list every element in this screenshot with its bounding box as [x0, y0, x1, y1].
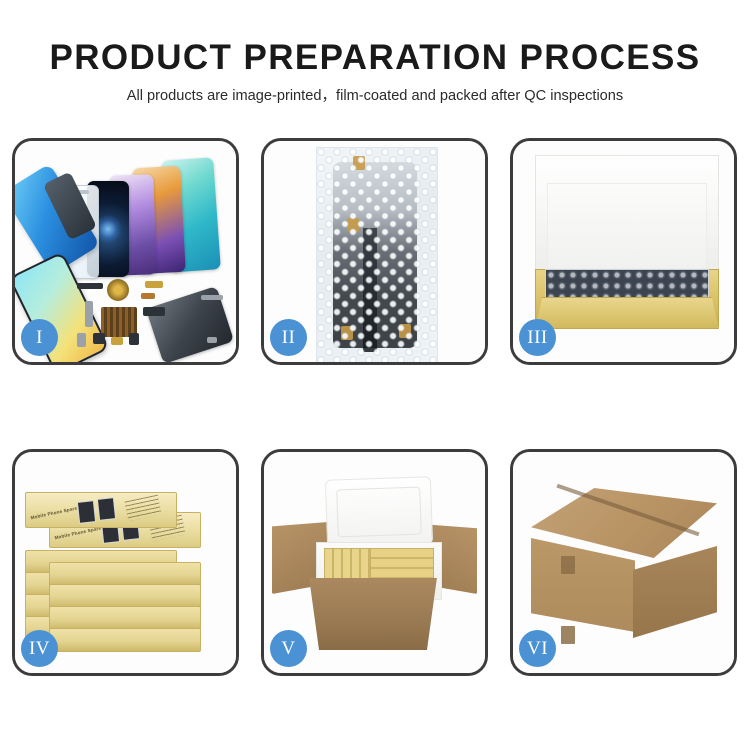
part-screws: [207, 337, 217, 343]
page-title: PRODUCT PREPARATION PROCESS: [0, 36, 750, 80]
part-vibrator: [93, 333, 105, 344]
speaker-coil-part: [107, 279, 129, 301]
step-panel-5: V: [261, 449, 488, 676]
stacked-box-r2: [49, 584, 201, 608]
part-screwdriver: [201, 295, 223, 300]
step-badge-2: II: [270, 319, 307, 356]
part-bracket: [85, 301, 93, 327]
step-badge-5: V: [270, 630, 307, 667]
step-badge-3: III: [519, 319, 556, 356]
part-antenna: [77, 283, 103, 289]
box-kraft-front: [535, 297, 719, 329]
box-window-top-b: [97, 497, 116, 521]
step-panel-1: I: [12, 138, 239, 365]
part-sim-tray: [77, 333, 86, 347]
box-window-top-a: [77, 500, 96, 524]
carton-tape-upper: [561, 556, 575, 574]
carton-tape-lower: [561, 626, 575, 644]
step-panel-3: III: [510, 138, 737, 365]
box-spec-text-top: [124, 495, 161, 522]
stacked-box-r3: [49, 606, 201, 630]
shipping-carton-front: [531, 538, 635, 632]
step-badge-4: IV: [21, 630, 58, 667]
infographic-page: PRODUCT PREPARATION PROCESS All products…: [0, 0, 750, 750]
part-flex-copper: [141, 293, 155, 299]
part-speaker: [129, 333, 139, 345]
step-badge-6: VI: [519, 630, 556, 667]
shipping-carton-side: [633, 546, 717, 638]
step-panel-4: Mobile Phone Spare Parts Mobile Phone Sp…: [12, 449, 239, 676]
step-panel-2: II: [261, 138, 488, 365]
bubble-wrap-bag: [316, 147, 438, 362]
part-flex-gold: [145, 281, 163, 288]
process-steps-grid: I II: [12, 138, 738, 678]
header: PRODUCT PREPARATION PROCESS All products…: [0, 36, 750, 106]
styrofoam-lid: [325, 476, 433, 548]
carton-body: [302, 578, 444, 650]
page-subtitle: All products are image-printed，film-coat…: [0, 86, 750, 106]
box-bubble-wrapped-content: [545, 269, 709, 299]
stacked-box-r4: [49, 628, 201, 652]
bubble-texture: [317, 148, 437, 362]
stacked-box-r1: [49, 562, 201, 586]
box-foam-insert: [547, 183, 707, 269]
step-badge-1: I: [21, 319, 58, 356]
part-button-flex: [111, 337, 123, 345]
printed-box-top: Mobile Phone Spare Parts: [25, 492, 177, 528]
step-panel-6: VI: [510, 449, 737, 676]
part-camera-module: [143, 307, 165, 316]
